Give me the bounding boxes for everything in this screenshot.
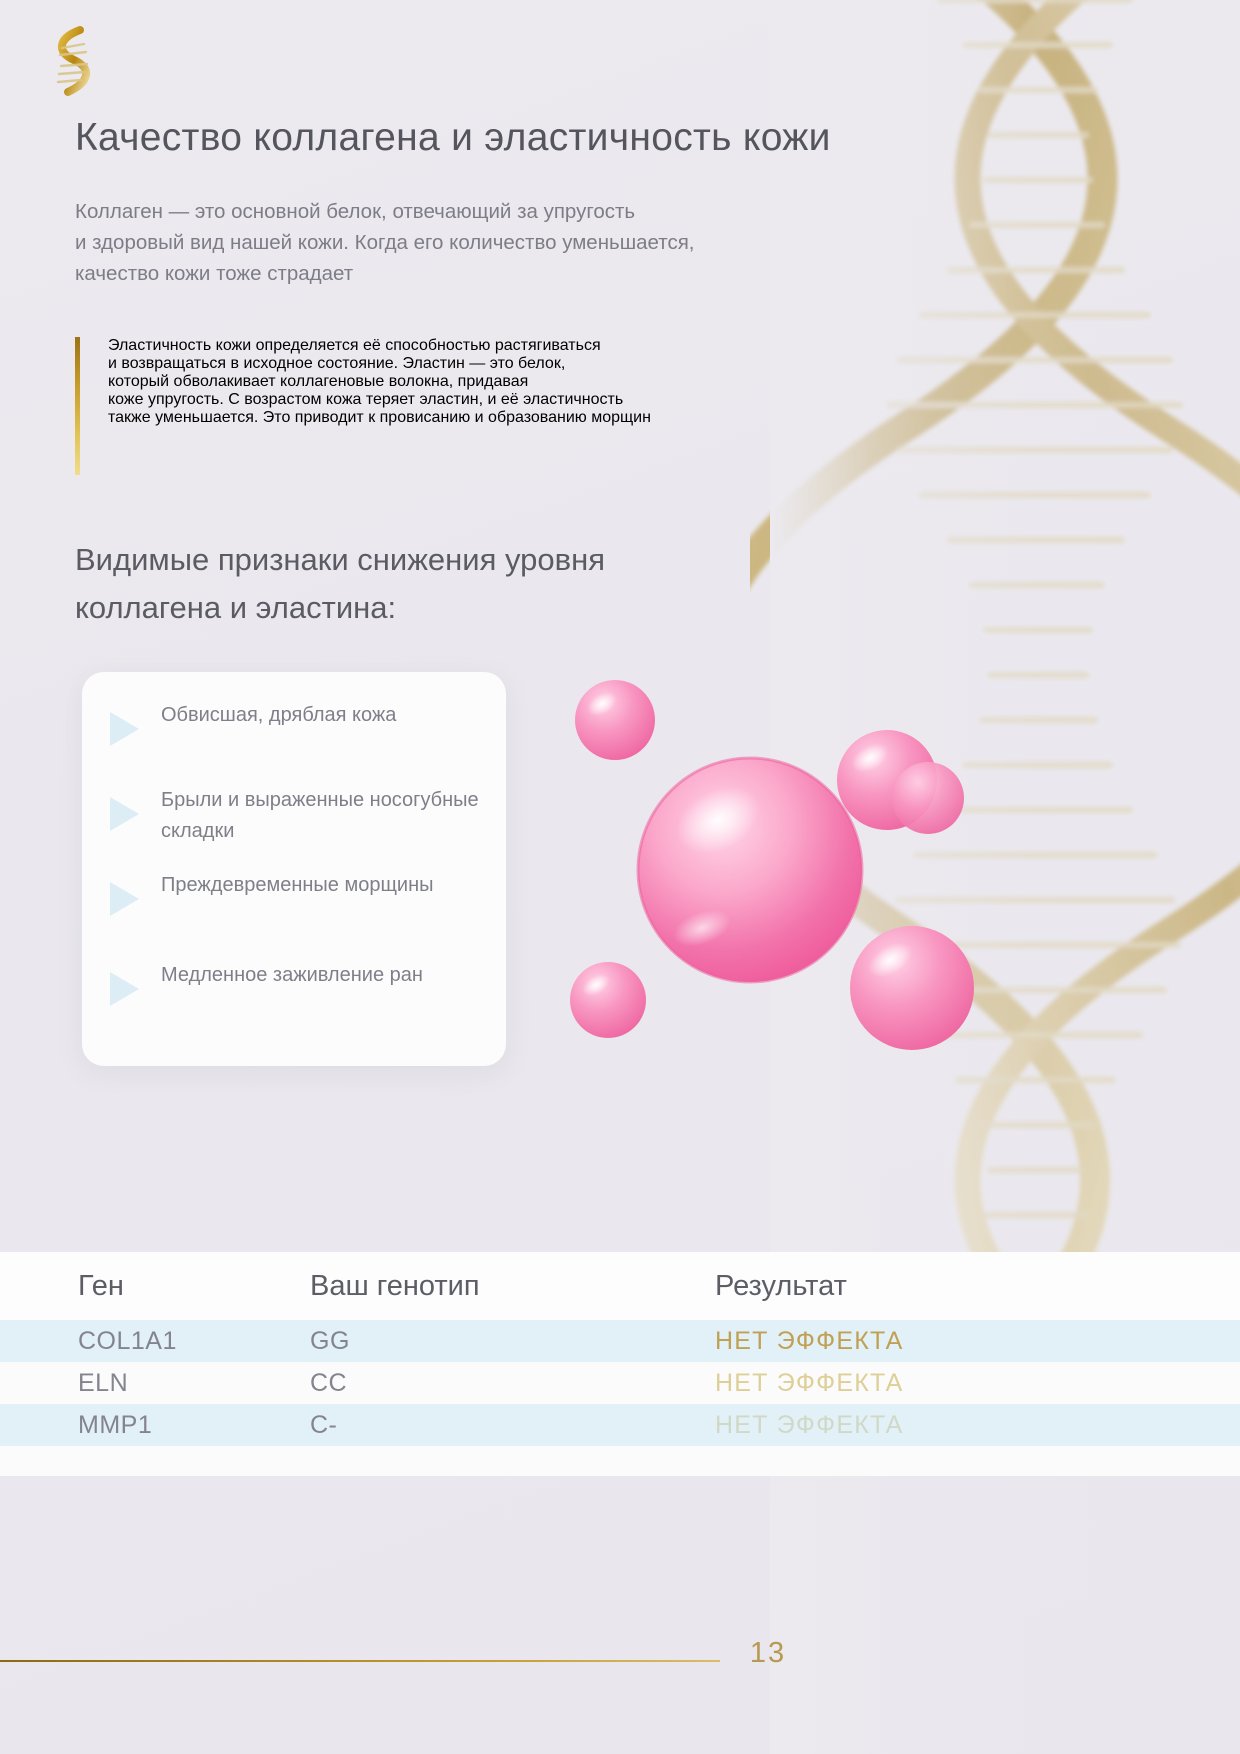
dna-helix-logo-icon (34, 22, 108, 100)
list-item-label: Обвисшая, дряблая кожа (161, 700, 491, 731)
cell-gene: MMP1 (0, 1411, 310, 1440)
column-header-gene: Ген (0, 1270, 310, 1303)
cell-gene: ELN (0, 1369, 310, 1398)
subtitle-line: Видимые признаки снижения уровня (75, 536, 605, 584)
list-item: Обвисшая, дряблая кожа (110, 700, 491, 746)
cell-genotype: CC (310, 1369, 715, 1398)
cell-genotype: GG (310, 1327, 715, 1356)
list-item: Медленное заживление ран (110, 960, 491, 1006)
list-item: Преждевременные морщины (110, 870, 491, 916)
callout-line: который обволакивает коллагеновые волокн… (108, 373, 955, 391)
table-row: COL1A1 GG НЕТ ЭФФЕКТА (0, 1320, 1240, 1362)
callout-accent-bar (75, 337, 80, 475)
page-title: Качество коллагена и эластичность кожи (75, 116, 831, 160)
report-page: Качество коллагена и эластичность кожи К… (0, 0, 1240, 1754)
column-header-genotype: Ваш генотип (310, 1270, 715, 1303)
intro-paragraph: Коллаген — это основной белок, отвечающи… (75, 196, 975, 289)
table-header-row: Ген Ваш генотип Результат (0, 1252, 1240, 1320)
cell-result: НЕТ ЭФФЕКТА (715, 1327, 1240, 1356)
callout-line: коже упругость. С возрастом кожа теряет … (108, 391, 955, 409)
callout-line: также уменьшается. Это приводит к провис… (108, 409, 955, 427)
intro-line: качество кожи тоже страдает (75, 258, 975, 289)
triangle-bullet-icon (110, 797, 139, 831)
callout-block: Эластичность кожи определяется её способ… (75, 337, 955, 427)
cell-genotype: C- (310, 1411, 715, 1440)
collagen-bubbles-illustration (560, 670, 1040, 1090)
list-item-label: Брыли и выраженные носогубные складки (161, 785, 491, 847)
cell-result: НЕТ ЭФФЕКТА (715, 1411, 1240, 1440)
list-item: Брыли и выраженные носогубные складки (110, 785, 491, 847)
callout-line: и возвращаться в исходное состояние. Эла… (108, 355, 955, 373)
results-table: Ген Ваш генотип Результат COL1A1 GG НЕТ … (0, 1252, 1240, 1476)
page-number: 13 (728, 1637, 808, 1670)
intro-line: Коллаген — это основной белок, отвечающи… (75, 196, 975, 227)
cell-gene: COL1A1 (0, 1327, 310, 1356)
table-row: MMP1 C- НЕТ ЭФФЕКТА (0, 1404, 1240, 1446)
table-footer-spacer (0, 1446, 1240, 1476)
callout-line: Эластичность кожи определяется её способ… (108, 337, 955, 355)
list-item-label: Преждевременные морщины (161, 870, 491, 901)
column-header-result: Результат (715, 1270, 1240, 1303)
signs-card: Обвисшая, дряблая кожа Брыли и выраженны… (82, 672, 506, 1066)
triangle-bullet-icon (110, 882, 139, 916)
table-body: COL1A1 GG НЕТ ЭФФЕКТА ELN CC НЕТ ЭФФЕКТА… (0, 1320, 1240, 1446)
triangle-bullet-icon (110, 712, 139, 746)
triangle-bullet-icon (110, 972, 139, 1006)
intro-line: и здоровый вид нашей кожи. Когда его кол… (75, 227, 975, 258)
subtitle-line: коллагена и эластина: (75, 584, 605, 632)
table-row: ELN CC НЕТ ЭФФЕКТА (0, 1362, 1240, 1404)
cell-result: НЕТ ЭФФЕКТА (715, 1369, 1240, 1398)
section-subtitle: Видимые признаки снижения уровня коллаге… (75, 536, 605, 632)
list-item-label: Медленное заживление ран (161, 960, 491, 991)
footer-divider (0, 1660, 720, 1662)
